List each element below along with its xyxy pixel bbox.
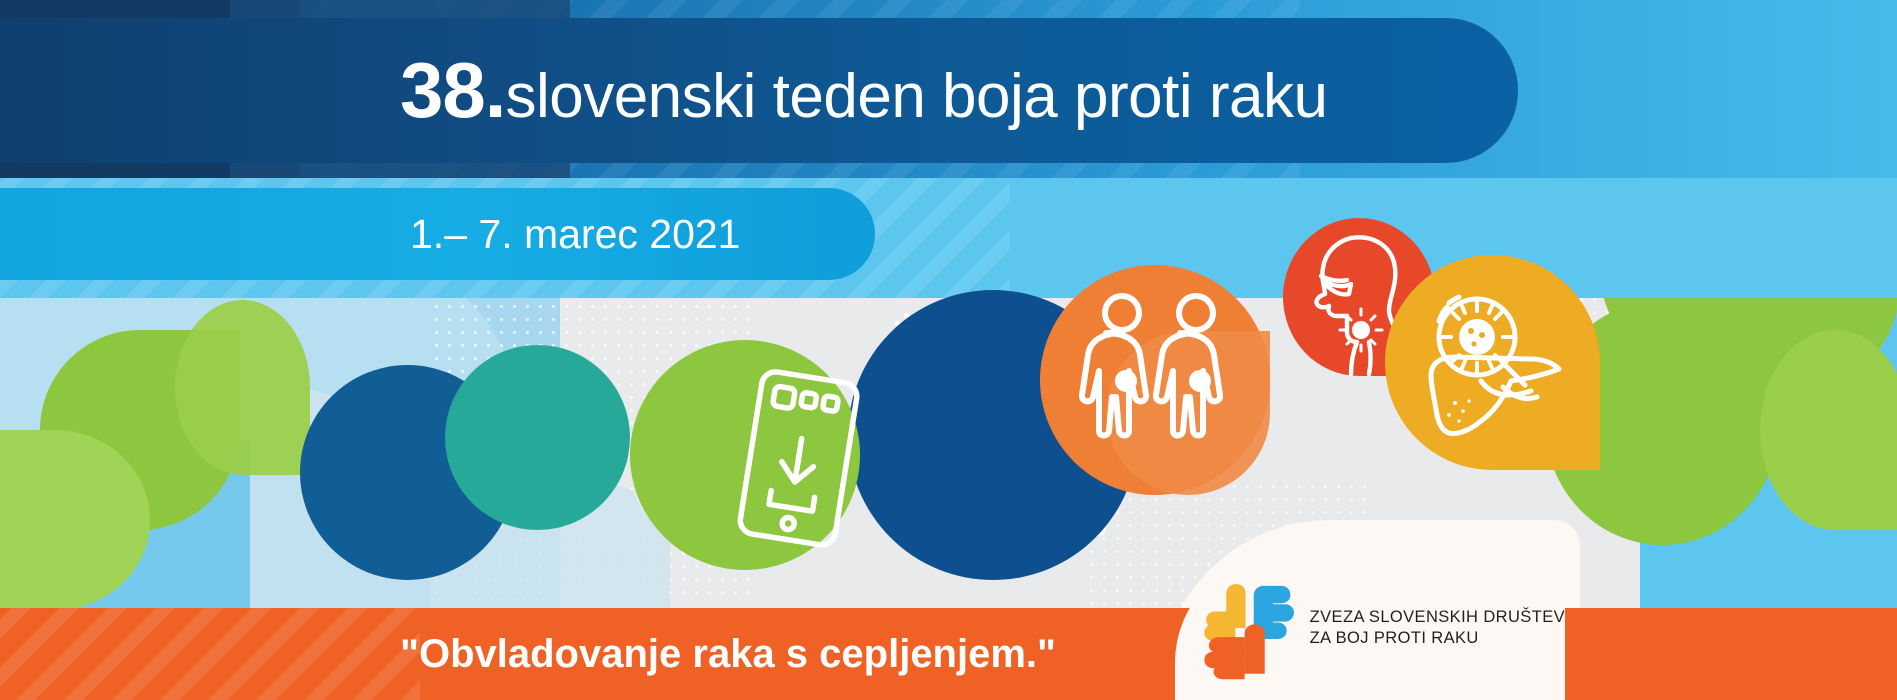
icon-liver-magnifier [1385,255,1600,470]
event-date: 1.– 7. marec 2021 [0,211,740,258]
two-people-icon [1040,265,1270,495]
icon-uterus-virus [445,345,630,530]
edition-number: 38. [400,46,505,134]
decor-leaf-green-left-2 [175,300,310,475]
organisation-name-line1: ZVEZA SLOVENSKIH DRUŠTEV [1310,607,1565,628]
organisation-name-line2: ZA BOJ PROTI RAKU [1310,628,1565,649]
helping-hands-icon [1197,576,1298,680]
title-text-wrapper: 38.slovenski teden boja proti raku [0,45,1327,136]
page-title: slovenski teden boja proti raku [505,62,1327,131]
slogan-wrapper: "Obvladovanje raka s cepljenjem." [0,608,1897,700]
campaign-slogan: "Obvladovanje raka s cepljenjem." [0,632,1056,677]
campaign-banner: 38.slovenski teden boja proti raku 1.– 7… [0,0,1897,700]
liver-magnifier-icon [1385,255,1600,470]
date-pill: 1.– 7. marec 2021 [0,188,875,280]
icon-two-people [1040,265,1270,495]
organisation-name: ZVEZA SLOVENSKIH DRUŠTEV ZA BOJ PROTI RA… [1310,607,1565,649]
uterus-virus-icon-circle [445,345,630,530]
organisation-logo: ZVEZA SLOVENSKIH DRUŠTEV ZA BOJ PROTI RA… [1175,553,1565,700]
icon-smartphone-download [630,340,860,570]
smartphone-download-icon [682,334,912,564]
decor-leaf-green-4 [1760,330,1897,530]
title-bar: 38.slovenski teden boja proti raku [0,18,1518,163]
